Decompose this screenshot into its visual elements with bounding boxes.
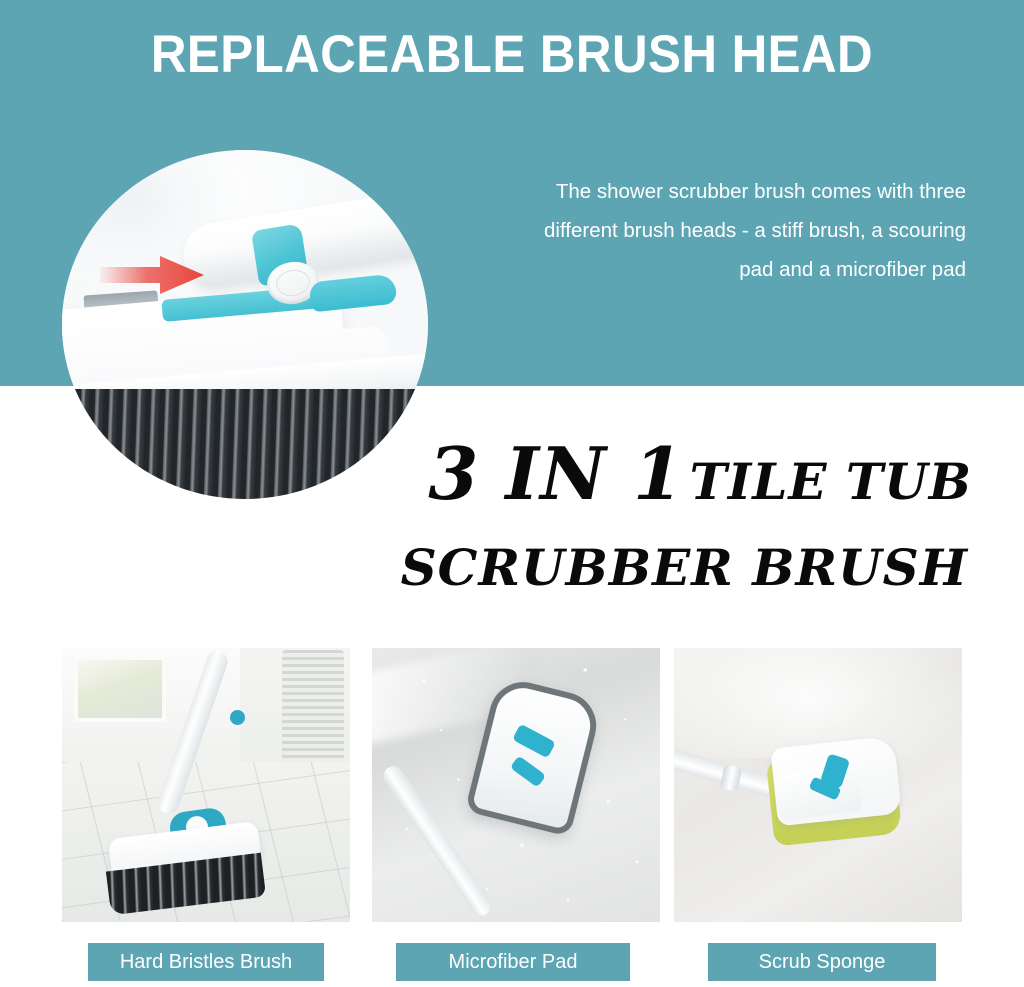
gallery-photo-microfiber-pad <box>372 648 660 922</box>
right-arrow-icon <box>98 253 206 297</box>
bathtub-highlight <box>674 648 962 758</box>
caption-scrub-sponge: Scrub Sponge <box>708 943 936 981</box>
hero-description-line-3: pad and a microfiber pad <box>466 250 966 289</box>
slogan-line-1: 3 IN 1 TILE TUB <box>332 436 972 532</box>
caption-microfiber-pad: Microfiber Pad <box>396 943 630 981</box>
hero-description-line-1: The shower scrubber brush comes with thr… <box>466 172 966 211</box>
slogan-line-2: SCRUBBER BRUSH <box>332 532 972 604</box>
slogan-tile-tub: TILE TUB <box>690 452 972 511</box>
gallery-photo-hard-bristles-brush <box>62 648 350 922</box>
gallery-photo-scrub-sponge <box>674 648 962 922</box>
slogan-three-in-one: 3 IN 1 <box>428 431 684 516</box>
page-title: REPLACEABLE BRUSH HEAD <box>36 26 988 84</box>
laundry-basket <box>282 650 344 762</box>
hero-description: The shower scrubber brush comes with thr… <box>466 172 966 289</box>
product-gallery <box>0 648 1024 928</box>
caption-hard-bristles-brush: Hard Bristles Brush <box>88 943 324 981</box>
pole-teal-button <box>230 710 245 725</box>
bathroom-window <box>74 656 166 722</box>
hero-description-line-2: different brush heads - a stiff brush, a… <box>466 211 966 250</box>
product-slogan: 3 IN 1 TILE TUB SCRUBBER BRUSH <box>332 436 972 604</box>
